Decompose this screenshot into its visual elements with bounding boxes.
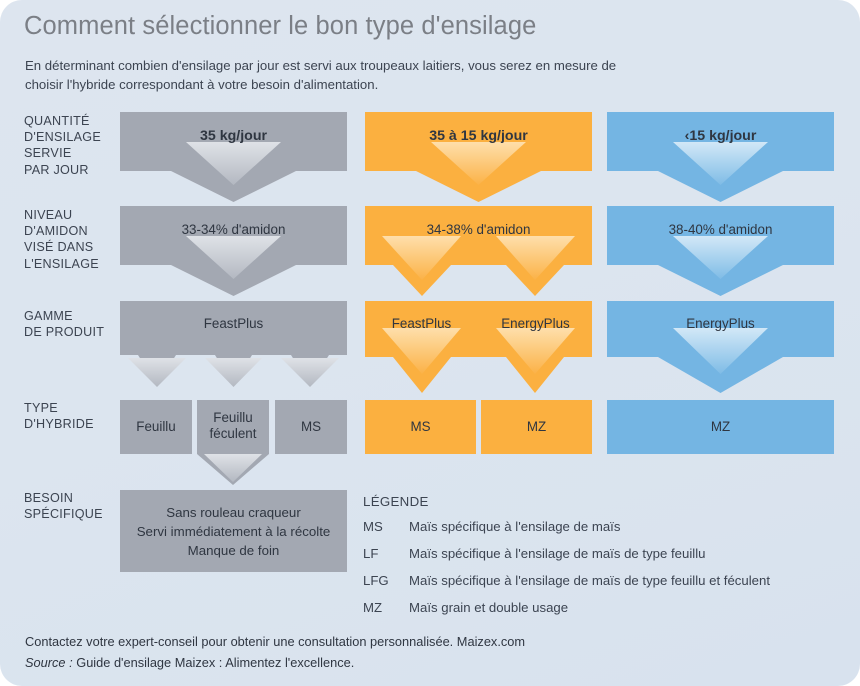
need-line-1: Sans rouleau craqueur (166, 503, 301, 522)
hybrid-blue-box-1: MZ (607, 400, 834, 454)
legend-code-lfg: LFG (363, 572, 409, 589)
legend-desc-ms: Maïs spécifique à l'ensilage de maïs (409, 518, 833, 535)
legend-code-ms: MS (363, 518, 409, 535)
hybrid-orange-label-2: MZ (527, 419, 546, 436)
need-line-2: Servi immédiatement à la récolte (137, 522, 331, 541)
footer-source-text: Guide d'ensilage Maizex : Alimentez l'ex… (76, 655, 354, 670)
legend-row-lf: LF Maïs spécifique à l'ensilage de maïs … (363, 545, 833, 562)
page-title: Comment sélectionner le bon type d'ensil… (24, 12, 536, 41)
footer-contact: Contactez votre expert-conseil pour obte… (25, 631, 785, 652)
starch-orange-block: 34-38% d'amidon (365, 206, 592, 296)
footer-source: Source : Guide d'ensilage Maizex : Alime… (25, 652, 785, 673)
page-subtitle: En déterminant combien d'ensilage par jo… (25, 56, 645, 94)
chevron-blue-2 (607, 206, 834, 301)
row-label-need: BESOINSPÉCIFIQUE (24, 490, 124, 522)
hybrid-grey-label-3: MS (301, 419, 321, 436)
hybrid-orange-box-1: MS (365, 400, 476, 454)
product-orange-block: FeastPlus EnergyPlus (365, 301, 592, 393)
row-label-hybrid: TYPED'HYBRIDE (24, 400, 124, 432)
legend-desc-lfg: Maïs spécifique à l'ensilage de maïs de … (409, 572, 833, 589)
quantity-grey-block: 35 kg/jour (120, 112, 347, 202)
hybrid-blue-label-1: MZ (711, 419, 730, 436)
hybrid-grey-label-1: Feuillu (136, 419, 175, 436)
legend-code-lf: LF (363, 545, 409, 562)
legend-row-ms: MS Maïs spécifique à l'ensilage de maïs (363, 518, 833, 535)
footer-source-label: Source : (25, 655, 73, 670)
legend-desc-lf: Maïs spécifique à l'ensilage de maïs de … (409, 545, 833, 562)
row-label-starch: NIVEAUD'AMIDONVISÉ DANSL'ENSILAGE (24, 207, 124, 272)
starch-grey-block: 33-34% d'amidon (120, 206, 347, 296)
legend-row-mz: MZ Maïs grain et double usage (363, 599, 833, 616)
hybrid-grey-box-2: Feuilluféculent (197, 400, 269, 485)
starch-blue-block: 38-40% d'amidon (607, 206, 834, 296)
chevron-blue-1 (607, 112, 834, 207)
legend-desc-mz: Maïs grain et double usage (409, 599, 833, 616)
infographic-card: Comment sélectionner le bon type d'ensil… (0, 0, 860, 686)
legend: LÉGENDE MS Maïs spécifique à l'ensilage … (363, 494, 833, 626)
hybrid-grey-box-3: MS (275, 400, 347, 454)
double-chevron-orange-3 (365, 301, 592, 398)
need-line-3: Manque de foin (188, 541, 280, 560)
chevron-orange-1 (365, 112, 592, 207)
legend-title: LÉGENDE (363, 494, 833, 509)
legend-code-mz: MZ (363, 599, 409, 616)
hybrid-grey-box-1: Feuillu (120, 400, 192, 454)
chevron-blue-3 (607, 301, 834, 398)
specific-need-box: Sans rouleau craqueur Servi immédiatemen… (120, 490, 347, 572)
legend-row-lfg: LFG Maïs spécifique à l'ensilage de maïs… (363, 572, 833, 589)
double-chevron-orange-2 (365, 206, 592, 301)
quantity-orange-block: 35 à 15 kg/jour (365, 112, 592, 202)
row-label-quantity: QUANTITÉD'ENSILAGESERVIEPAR JOUR (24, 113, 124, 178)
chevron-grey-4 (197, 400, 269, 490)
hybrid-orange-label-1: MS (410, 419, 430, 436)
quantity-blue-block: ‹15 kg/jour (607, 112, 834, 202)
product-grey-block: FeastPlus (120, 301, 347, 393)
triple-chevron-grey-3 (120, 301, 347, 398)
row-label-product: GAMMEDE PRODUIT (24, 308, 124, 340)
hybrid-orange-box-2: MZ (481, 400, 592, 454)
chevron-grey-2 (120, 206, 347, 301)
chevron-grey-1 (120, 112, 347, 207)
product-blue-block: EnergyPlus (607, 301, 834, 393)
footer: Contactez votre expert-conseil pour obte… (25, 631, 785, 673)
